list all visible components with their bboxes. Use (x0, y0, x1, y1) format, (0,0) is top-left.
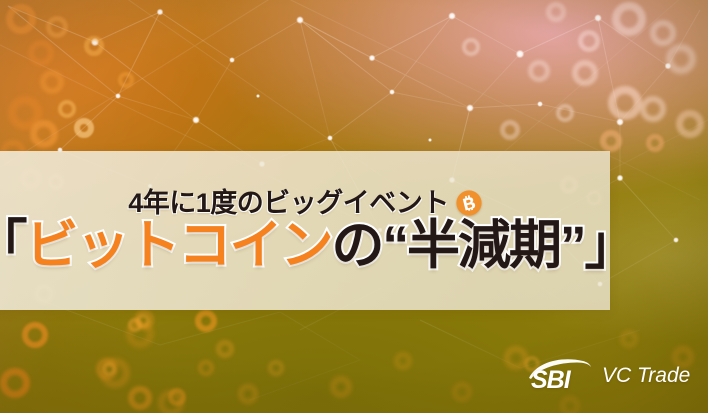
headline-line-2: 「 ビットコイン の“ 半減期 ” 」 (0, 219, 636, 272)
headline-keyword-halving: 半減期 (407, 219, 560, 272)
headline-line-1: 4年に1度のビッグイベント (128, 190, 482, 217)
bitcoin-halving-banner: 4年に1度のビッグイベント 「 ビットコイン の“ 半減期 ” 」 SBI (0, 0, 708, 413)
headline-subtitle: 4年に1度のビッグイベント (128, 190, 449, 217)
sbi-vc-trade-logo: SBI VC Trade (531, 357, 691, 395)
bitcoin-icon (456, 190, 482, 216)
sbi-logo-text: SBI (531, 368, 570, 393)
headline-middle: の“ (332, 219, 408, 272)
headline-close-quote: ” (560, 219, 585, 272)
headline-close-bracket: 」 (585, 219, 636, 272)
headline-highlight-bitcoin: ビットコイン (26, 219, 332, 272)
headline-open-bracket: 「 (0, 219, 26, 272)
headline-block: 4年に1度のビッグイベント 「 ビットコイン の“ 半減期 ” 」 (0, 151, 610, 310)
vc-trade-logo-text: VC Trade (602, 365, 690, 387)
sbi-mark: SBI (531, 359, 593, 393)
